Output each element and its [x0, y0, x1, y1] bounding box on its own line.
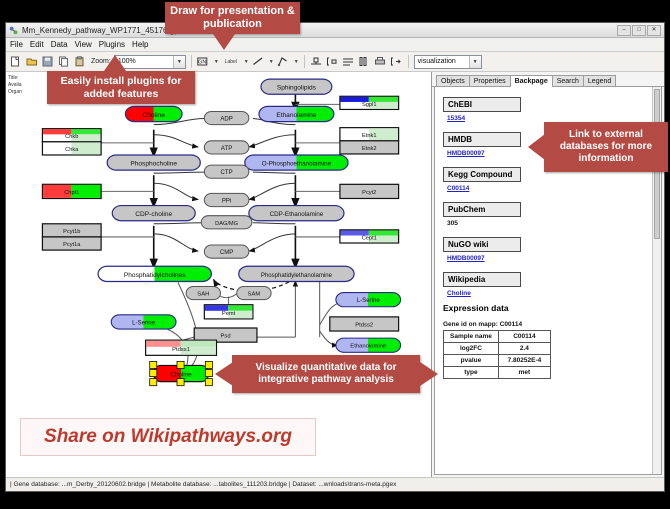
gene-etnk2[interactable]: Etnk2 — [340, 141, 399, 154]
node-label: Psd — [221, 334, 231, 340]
metabolite-dag-mg[interactable]: DAG/MG — [201, 216, 252, 229]
db-value-pubchem: 305 — [447, 220, 653, 227]
metabolite-ethanolamine-top[interactable]: Ethanolamine — [259, 106, 334, 121]
metabolite-choline-selected[interactable]: Choline — [150, 361, 213, 385]
db-header-hmdb: HMDB — [443, 132, 521, 147]
tab-objects[interactable]: Objects — [436, 75, 470, 86]
node-label: Chka — [65, 147, 79, 153]
gene-pcyt2[interactable]: Pcyt2 — [340, 184, 399, 198]
menu-data[interactable]: Data — [51, 40, 68, 49]
node-label: Pemt — [222, 311, 236, 317]
tab-properties[interactable]: Properties — [469, 75, 511, 86]
table-cell-key: pvalue — [444, 355, 499, 367]
callout-visualize-arrow-left-icon — [215, 362, 233, 386]
metabolite-ppi[interactable]: PPi — [204, 193, 249, 206]
metabolite-cdp-ethanolamine[interactable]: CDP-Ethanolamine — [249, 206, 344, 221]
shape-icon[interactable] — [277, 55, 290, 68]
side-panel-tabs: Objects Properties Backpage Search Legen… — [432, 72, 664, 87]
menu-view[interactable]: View — [75, 40, 92, 49]
node-label: Chkb — [65, 134, 78, 140]
gene-chpt1[interactable]: Chpt1 — [42, 184, 101, 198]
node-label: CMP — [220, 250, 233, 256]
node-label: CTP — [221, 170, 233, 176]
table-cell-value: met — [498, 367, 550, 379]
status-text: | Gene database: ...m_Derby_20120602.bri… — [10, 481, 396, 488]
expression-data-heading: Expression data — [443, 303, 653, 313]
table-cell-value: 7.80252E-4 — [498, 355, 550, 367]
svg-text:GN: GN — [198, 60, 206, 66]
datanode-icon[interactable]: GN — [197, 55, 210, 68]
copy-icon[interactable] — [57, 55, 70, 68]
save-icon[interactable] — [41, 55, 54, 68]
table-cell-key: type — [444, 367, 499, 379]
callout-plugins-arrow-icon — [104, 55, 126, 71]
callout-share-on-wikipathways: Share on Wikipathways.org — [20, 418, 316, 456]
node-label: SAM — [248, 292, 261, 298]
metabolite-adp[interactable]: ADP — [204, 111, 249, 124]
open-icon[interactable] — [25, 55, 38, 68]
gene-pcyt1a[interactable]: Pcyt1a — [42, 237, 101, 250]
title-bar: Mm_Kennedy_pathway_WP1771_45176.gpml – □… — [6, 23, 664, 38]
gene-etnk1[interactable]: Etnk1 — [340, 128, 399, 141]
node-label: Choline — [170, 372, 192, 379]
metabolite-sah[interactable]: SAH — [186, 287, 220, 300]
table-row: pvalue 7.80252E-4 — [444, 355, 551, 367]
minimize-button[interactable]: – — [617, 25, 631, 36]
db-header-pubchem: PubChem — [443, 202, 521, 217]
metabolite-l-serine-left[interactable]: L-Serine — [111, 315, 176, 329]
group-icon[interactable] — [326, 55, 339, 68]
pathvisio-icon — [9, 26, 18, 35]
chevron-down-icon[interactable]: ▼ — [173, 56, 185, 68]
label-tool-text: Label — [225, 59, 237, 65]
callout-visualize-arrow-right-icon — [420, 362, 438, 386]
new-icon[interactable] — [9, 55, 22, 68]
node-label: Choline — [143, 112, 166, 119]
node-label: Etnk2 — [362, 146, 376, 152]
expression-table: Sample name C00114 log2FC 2.4 pvalue 7.8… — [443, 330, 551, 379]
metabolite-sam[interactable]: SAM — [237, 287, 271, 300]
line-icon[interactable] — [252, 55, 265, 68]
gene-cept1[interactable]: Cept1 — [340, 230, 399, 243]
menu-plugins[interactable]: Plugins — [99, 40, 125, 49]
visualization-combobox[interactable]: visualization ▼ — [414, 55, 482, 69]
node-label: O-Phosphoethanolamine — [262, 161, 332, 168]
table-cell-value: C00114 — [498, 331, 550, 343]
node-label: Ptdss1 — [172, 347, 190, 353]
gene-pcyt1b[interactable]: Pcyt1b — [42, 224, 101, 237]
node-label: Ethanolamine — [350, 344, 386, 350]
metabolite-sphingolipids[interactable]: Sphingolipids — [261, 79, 332, 94]
table-row: Sample name C00114 — [444, 331, 551, 343]
print-icon[interactable] — [374, 55, 387, 68]
callout-easily-install-plugins: Easily install plugins for added feature… — [47, 71, 195, 104]
callout-draw-arrow-icon — [213, 34, 235, 50]
node-label: Etnk1 — [362, 133, 376, 139]
db-header-chebi: ChEBI — [443, 97, 521, 112]
metabolite-choline-top[interactable]: Choline — [125, 106, 182, 121]
node-label: Pcyt2 — [362, 190, 376, 196]
visualization-value: visualization — [418, 58, 456, 65]
metabolite-cdp-choline[interactable]: CDP-choline — [112, 206, 195, 221]
table-cell-key: log2FC — [444, 343, 499, 355]
node-label: ATP — [221, 146, 232, 152]
export-icon[interactable] — [390, 55, 403, 68]
menu-help[interactable]: Help — [132, 40, 148, 49]
node-label: Cept1 — [362, 235, 377, 241]
table-row: type met — [444, 367, 551, 379]
db-header-kegg-compound: Kegg Compound — [443, 167, 521, 182]
callout-link-arrow-icon — [528, 134, 545, 160]
metabolite-phosphatidylcholines[interactable]: Phosphatidylcholines — [98, 266, 211, 281]
stack-icon[interactable] — [358, 55, 371, 68]
pathway-canvas[interactable]: Title: Availa Organ — [6, 72, 432, 477]
table-row: log2FC 2.4 — [444, 343, 551, 355]
metabolite-ctp[interactable]: CTP — [204, 165, 249, 178]
gene-pemt[interactable]: Pemt — [204, 305, 253, 319]
node-label: Sgpl1 — [362, 102, 376, 108]
db-header-wikipedia: Wikipedia — [443, 272, 521, 287]
callout-draw-for-presentation: Draw for presentation & publication — [165, 2, 300, 34]
gene-ptdss1[interactable]: Ptdss1 — [146, 340, 217, 355]
menu-bar: File Edit Data View Plugins Help — [6, 38, 664, 52]
callout-visualize-quantitative-data: Visualize quantitative data for integrat… — [232, 355, 420, 393]
node-label: Pcyt1a — [63, 242, 81, 248]
menu-edit[interactable]: Edit — [30, 40, 44, 49]
close-button[interactable]: ✕ — [647, 25, 661, 36]
callout-link-to-external-databases: Link to external databases for more info… — [544, 122, 668, 172]
gene-id-line: Gene id on mapp: C00114 — [443, 321, 653, 328]
node-label: Ptdss2 — [355, 322, 373, 328]
label-dropdown-icon[interactable]: ▼ — [244, 59, 249, 65]
line-dropdown-icon[interactable]: ▼ — [269, 59, 274, 65]
tab-search[interactable]: Search — [552, 75, 584, 86]
node-label: Phosphatidylethanolamine — [261, 273, 333, 279]
node-label: Pcyt1b — [63, 229, 80, 235]
shape-dropdown-icon[interactable]: ▼ — [294, 59, 299, 65]
align-icon[interactable] — [310, 55, 323, 68]
node-label: L-Serine — [132, 320, 156, 326]
metabolite-atp[interactable]: ATP — [204, 141, 249, 154]
datanode-dropdown-icon[interactable]: ▼ — [214, 59, 219, 65]
db-link-kegg-compound[interactable]: C00114 — [447, 185, 653, 192]
metabolite-cmp[interactable]: CMP — [204, 245, 249, 258]
gene-chka[interactable]: Chka — [42, 142, 101, 155]
node-label: SAH — [197, 292, 209, 298]
node-label: Phosphatidylcholines — [124, 272, 186, 279]
pathway-diagram[interactable]: Choline Phosphocholine CDP-choline Phosp… — [6, 72, 431, 477]
chevron-down-icon[interactable]: ▼ — [469, 56, 481, 68]
metabolite-o-phosphoethanolamine[interactable]: O-Phosphoethanolamine — [245, 155, 348, 170]
label-tool[interactable]: Label — [222, 55, 240, 68]
maximize-button[interactable]: □ — [632, 25, 646, 36]
metabolite-ethanolamine-bottom[interactable]: Ethanolamine — [336, 338, 401, 352]
gene-chkb[interactable]: Chkb — [42, 129, 101, 142]
paste-icon[interactable] — [73, 55, 86, 68]
menu-file[interactable]: File — [10, 40, 23, 49]
tab-legend[interactable]: Legend — [583, 75, 616, 86]
node-label: Chpt1 — [64, 190, 79, 196]
order-icon[interactable] — [342, 55, 355, 68]
metabolite-phosphatidylethanolamine[interactable]: Phosphatidylethanolamine — [239, 266, 354, 281]
db-link-nugo-wiki[interactable]: HMDB00097 — [447, 255, 653, 262]
gene-sgpl1[interactable]: Sgpl1 — [340, 96, 399, 109]
node-label: PPi — [222, 199, 231, 205]
node-label: CDP-Ethanolamine — [270, 211, 324, 218]
node-label: Ethanolamine — [276, 112, 316, 119]
node-label: Sphingolipids — [277, 85, 317, 92]
table-cell-key: Sample name — [444, 331, 499, 343]
gene-ptdss2[interactable]: Ptdss2 — [330, 317, 399, 331]
node-label: Phosphocholine — [130, 161, 177, 168]
status-bar: | Gene database: ...m_Derby_20120602.bri… — [6, 477, 664, 491]
tab-backpage[interactable]: Backpage — [510, 75, 553, 87]
db-link-wikipedia[interactable]: Choline — [447, 290, 653, 297]
node-label: CDP-choline — [135, 211, 172, 218]
window-title: Mm_Kennedy_pathway_WP1771_45176.gpml — [22, 26, 187, 35]
node-label: DAG/MG — [215, 221, 238, 227]
db-link-chebi[interactable]: 15354 — [447, 115, 653, 122]
node-label: ADP — [220, 117, 232, 123]
metabolite-phosphocholine[interactable]: Phosphocholine — [107, 155, 200, 170]
table-cell-value: 2.4 — [498, 343, 550, 355]
metabolite-l-serine-right[interactable]: L-Serine — [336, 293, 401, 307]
db-header-nugo-wiki: NuGO wiki — [443, 237, 521, 252]
node-label: L-Serine — [357, 298, 381, 304]
